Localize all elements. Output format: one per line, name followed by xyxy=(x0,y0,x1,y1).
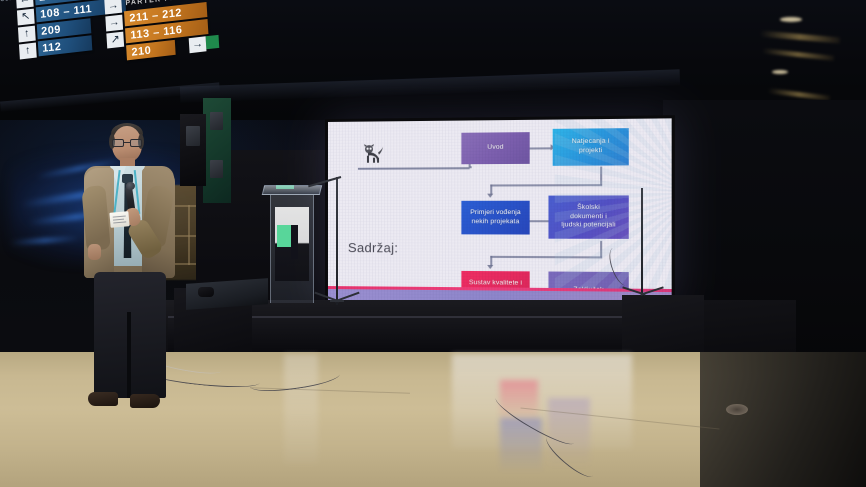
sign-room-label: ROOM xyxy=(0,0,14,4)
up-right-arrow-icon: ↗ xyxy=(106,32,124,49)
flow-connector-h xyxy=(358,167,470,169)
right-arrow-icon: → xyxy=(189,36,207,53)
pa-speaker-column xyxy=(203,98,231,203)
sign-arrow-column-orange: → → ↗ xyxy=(104,0,124,49)
flow-connector-v xyxy=(600,241,602,258)
flow-arrowhead xyxy=(487,265,493,269)
up-left-arrow-icon: ↖ xyxy=(17,9,35,26)
slide-heading-sadrzaj: Sadržaj: xyxy=(348,240,398,255)
up-arrow-icon: ↑ xyxy=(18,26,36,43)
flow-box-skolski[interactable]: Školskidokumenti iljudski potencijali xyxy=(548,195,628,238)
flow-connector-h xyxy=(490,184,602,186)
tripod-leg xyxy=(330,300,344,302)
exit-sign-green xyxy=(206,35,220,49)
presenter-hand-left xyxy=(88,244,101,260)
lectern-top-surface xyxy=(262,185,322,195)
flow-connector-primjeri-skolski xyxy=(530,220,551,222)
ceiling-light xyxy=(772,70,788,74)
flow-box-natjecanja[interactable]: Natjecanja iprojekti xyxy=(553,128,629,166)
presenter xyxy=(72,116,196,428)
flow-box-uvod[interactable]: Uvod xyxy=(461,132,529,164)
lectern-logo-mark xyxy=(277,225,291,247)
flow-connector-v xyxy=(600,167,602,186)
left-arrow-icon: ← xyxy=(16,0,34,9)
presenter-shoe-left xyxy=(88,392,118,406)
microphone-head-icon xyxy=(126,182,135,190)
conference-name-badge xyxy=(109,211,129,228)
ceiling-light xyxy=(780,17,802,22)
floor-shadow-right xyxy=(700,352,866,487)
flow-box-primjeri[interactable]: Primjeri vođenjanekih projekata xyxy=(461,201,529,235)
right-arrow-icon: → xyxy=(104,0,122,15)
mic-stand-pole xyxy=(336,177,338,305)
trouser-leg-gap xyxy=(127,312,131,398)
right-arrow-icon: → xyxy=(105,15,123,32)
sign-arrow-column-blue: ← ↖ ↑ ↑ xyxy=(16,0,37,59)
floor-drain-cover xyxy=(726,404,748,415)
flow-connector-h xyxy=(490,256,602,258)
monitor-knob xyxy=(198,287,214,297)
up-arrow-icon: ↑ xyxy=(19,43,37,60)
eyeglasses-icon xyxy=(112,139,142,147)
screen-reflection-white xyxy=(452,354,632,449)
flow-connector-uvod-natjecanja xyxy=(530,147,551,149)
school-crest-icon xyxy=(360,144,384,166)
speaker-grill xyxy=(210,160,223,178)
mic-stand-pole-right xyxy=(641,188,643,296)
sign-row-210: 210 xyxy=(126,40,176,61)
acrylic-lectern xyxy=(263,185,321,305)
speaker-grill xyxy=(210,112,223,130)
flow-arrowhead xyxy=(487,194,493,198)
presentation-hall-photo: ROOM ← ↖ ↑ ↑ 207 – 208 108 – 111 209 112… xyxy=(0,0,866,487)
presenter-shoe-right xyxy=(130,394,160,408)
lectern-logo-mark-dark xyxy=(291,225,298,259)
